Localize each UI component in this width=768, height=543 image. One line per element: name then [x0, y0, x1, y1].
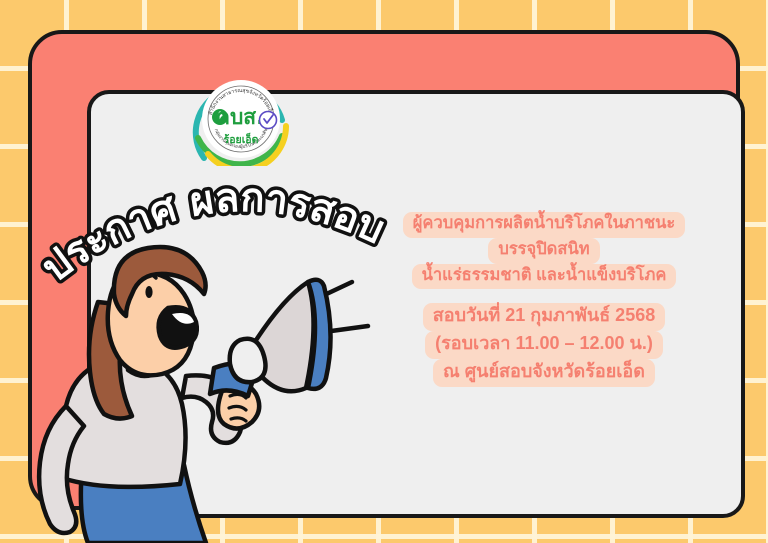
poster-canvas: สำนักงานสาธารณสุขจังหวัดร้อยเอ็ด กลุ่มงา… — [0, 0, 768, 543]
exam-time-line: (รอบเวลา 11.00 – 12.00 น.) — [425, 331, 663, 359]
logo-main-text: คบส. — [216, 105, 264, 129]
announcement-line-3: น้ำแร่ธรรมชาติ และน้ำแข็งบริโภค — [412, 264, 677, 290]
organization-logo: สำนักงานสาธารณสุขจังหวัดร้อยเอ็ด กลุ่มงา… — [178, 62, 304, 166]
logo-check-emblem — [260, 112, 277, 129]
exam-date-line: สอบวันที่ 21 กุมภาพันธ์ 2568 — [423, 303, 665, 331]
eye — [145, 286, 152, 298]
megaphone-collar — [230, 339, 266, 382]
woman-with-megaphone-illustration — [18, 236, 378, 543]
announcement-text-block: ผู้ควบคุมการผลิตน้ำบริโภคในภาชนะ บรรจุปิ… — [388, 212, 700, 387]
announcement-line-1: ผู้ควบคุมการผลิตน้ำบริโภคในภาชนะ — [403, 212, 685, 238]
text-spacer — [388, 289, 700, 303]
exam-venue-line: ณ ศูนย์สอบจังหวัดร้อยเอ็ด — [433, 359, 655, 387]
logo-sub-text: ร้อยเอ็ด — [224, 132, 259, 146]
announcement-line-2: บรรจุปิดสนิท — [488, 238, 599, 264]
